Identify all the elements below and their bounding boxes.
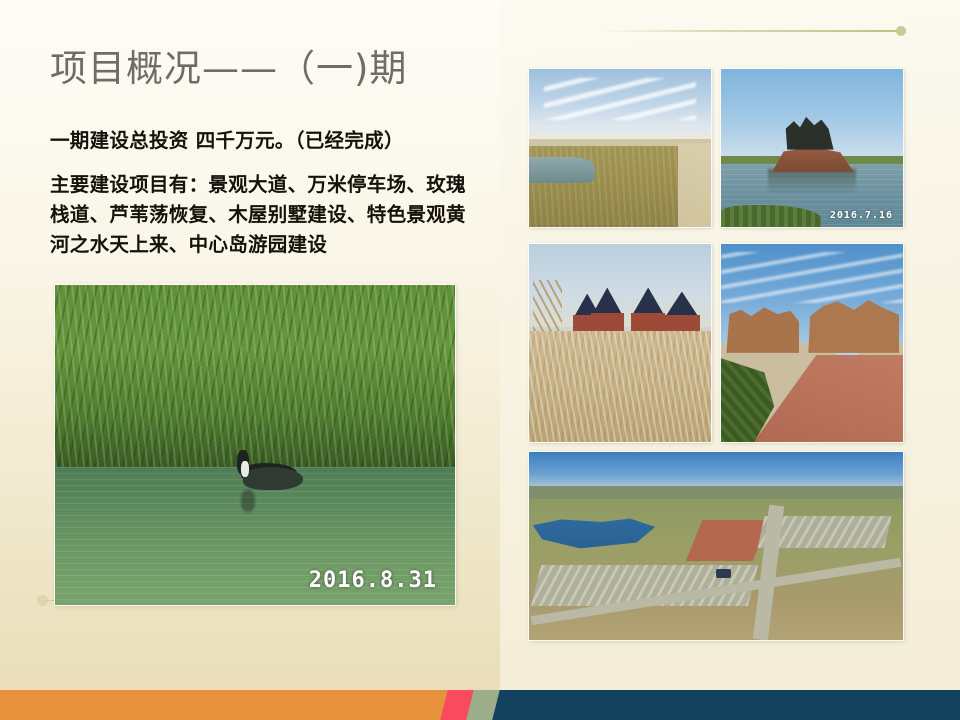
- photo-date-stamp: 2016.8.31: [309, 568, 437, 593]
- footer-color-bar: [0, 690, 960, 720]
- body-paragraph-investment: 一期建设总投资 四千万元。（已经完成）: [50, 126, 470, 156]
- photo-clouds: [721, 252, 903, 303]
- footer-orange-block: [0, 690, 470, 720]
- photo-clouds: [544, 78, 697, 119]
- photo-bird-reflection: [241, 490, 255, 512]
- top-accent-dot-icon: [896, 26, 906, 36]
- photo-island-reflection: [768, 169, 855, 194]
- presentation-slide: 项目概况——（一)期 一期建设总投资 四千万元。（已经完成） 主要建设项目有：景…: [0, 0, 960, 720]
- photo-waterbird-body: [243, 467, 303, 489]
- footer-navy-block: [470, 690, 960, 720]
- stone-arch-gate-photo: [721, 244, 903, 442]
- wooden-villas-photo: [529, 244, 711, 442]
- wetland-reeds-photo: [529, 69, 711, 227]
- bird-on-lake-photo: 2016.8.31: [55, 285, 455, 605]
- page-title: 项目概况——（一)期: [50, 48, 407, 91]
- rock-island-photo: 2016.7.16: [721, 69, 903, 227]
- photo-sand-path: [678, 143, 711, 227]
- photo-reed-bank: [55, 285, 455, 467]
- photo-water-channel: [529, 157, 595, 182]
- photo-sky: [529, 452, 903, 490]
- photo-waterbird-marking: [241, 461, 249, 477]
- aerial-overview-photo: [529, 452, 903, 640]
- photo-vehicle: [716, 569, 731, 578]
- body-paragraph-projects: 主要建设项目有：景观大道、万米停车场、玫瑰栈道、芦苇荡恢复、木屋别墅建设、特色景…: [50, 170, 470, 260]
- photo-reed-plumes: [529, 331, 711, 442]
- top-divider-line: [600, 30, 900, 32]
- photo-date-stamp: 2016.7.16: [830, 210, 893, 221]
